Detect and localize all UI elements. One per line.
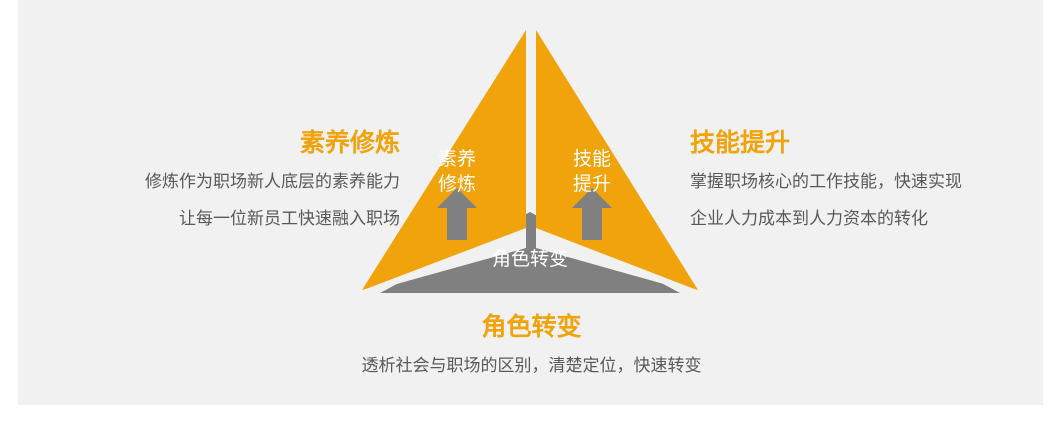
text-block-left: 素养修炼 修炼作为职场新人底层的素养能力 让每一位新员工快速融入职场 [30,128,400,234]
text-block-bottom: 角色转变 透析社会与职场的区别，清楚定位，快速转变 [0,312,1063,380]
left-block-heading: 素养修炼 [30,128,400,159]
bottom-block-body-line1: 透析社会与职场的区别，清楚定位，快速转变 [0,351,1063,380]
right-block-body-line2: 企业人力成本到人力资本的转化 [690,204,1040,233]
right-wing-label-line1: 技能 [573,148,611,170]
left-wing-label-line2: 修炼 [438,173,476,195]
slide-canvas: 素养 修炼 技能 提升 角色转变 素养修炼 修炼作为职场新人底层的素养能力 让每… [0,0,1063,436]
right-wing-label-line2: 提升 [573,173,611,195]
left-wing-label-line1: 素养 [438,148,476,170]
base-label: 角色转变 [492,248,568,270]
left-block-body-line2: 让每一位新员工快速融入职场 [30,204,400,233]
right-block-heading: 技能提升 [690,128,1040,159]
left-block-body-line1: 修炼作为职场新人底层的素养能力 [30,167,400,196]
right-block-body-line1: 掌握职场核心的工作技能，快速实现 [690,167,1040,196]
text-block-right: 技能提升 掌握职场核心的工作技能，快速实现 企业人力成本到人力资本的转化 [690,128,1040,234]
bottom-block-heading: 角色转变 [0,312,1063,343]
